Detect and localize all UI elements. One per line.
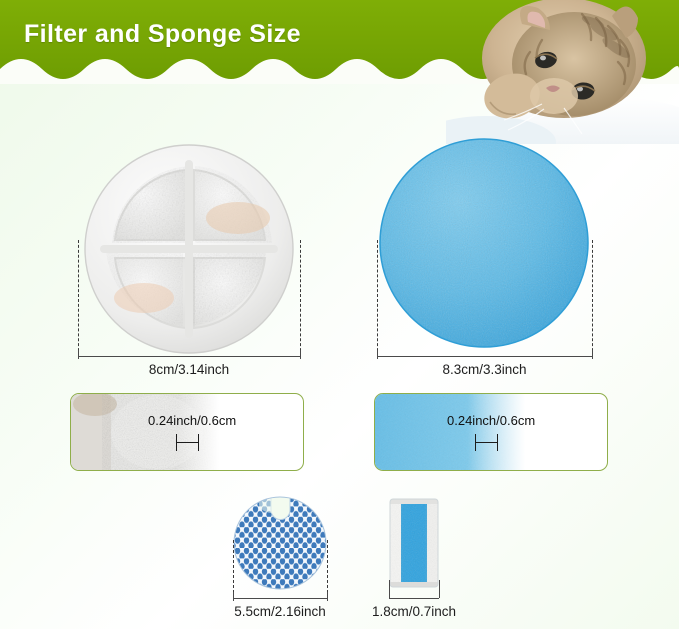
dim-extension-right (439, 580, 440, 598)
sponge-block-dimension-label: 1.8cm/0.7inch (354, 604, 474, 619)
dim-extension-right (592, 240, 593, 356)
dim-tick-right (300, 350, 301, 359)
dim-extension-right (327, 540, 328, 598)
sponge-edge-zoom-photo (375, 394, 525, 470)
sponge-dimension-label: 8.3cm/3.3inch (377, 362, 592, 377)
sponge-block-photo (388, 497, 440, 589)
mesh-disc-photo (233, 496, 327, 590)
dim-extension-left (233, 540, 234, 598)
filter-thickness-callout: 0.24inch/0.6cm (70, 393, 304, 471)
filter-disc-photo (78, 138, 300, 360)
sponge-thickness-callout: 0.24inch/0.6cm (374, 393, 608, 471)
dim-tick-left (78, 350, 79, 359)
filter-edge-zoom-photo (71, 394, 219, 470)
dim-measure-line (377, 356, 592, 357)
page-title: Filter and Sponge Size (24, 20, 301, 49)
filter-dimension-label: 8cm/3.14inch (78, 362, 300, 377)
dim-measure-line (78, 356, 300, 357)
dim-measure-line (233, 598, 327, 599)
cat-photo (446, 0, 679, 144)
infographic-page: Filter and Sponge Size (0, 0, 679, 629)
dim-extension-left (377, 240, 378, 356)
dim-extension-left (78, 240, 79, 356)
dim-measure-line (389, 598, 439, 599)
dim-tick-left (233, 592, 234, 601)
dim-tick-right (592, 350, 593, 359)
dim-tick-right (327, 592, 328, 601)
filter-thickness-label: 0.24inch/0.6cm (148, 413, 236, 428)
sponge-thickness-label: 0.24inch/0.6cm (447, 413, 535, 428)
dim-tick-left (377, 350, 378, 359)
dim-extension-left (389, 580, 390, 598)
sponge-disc-photo (377, 136, 592, 351)
mesh-disc-dimension-label: 5.5cm/2.16inch (215, 604, 345, 619)
dim-extension-right (300, 240, 301, 356)
